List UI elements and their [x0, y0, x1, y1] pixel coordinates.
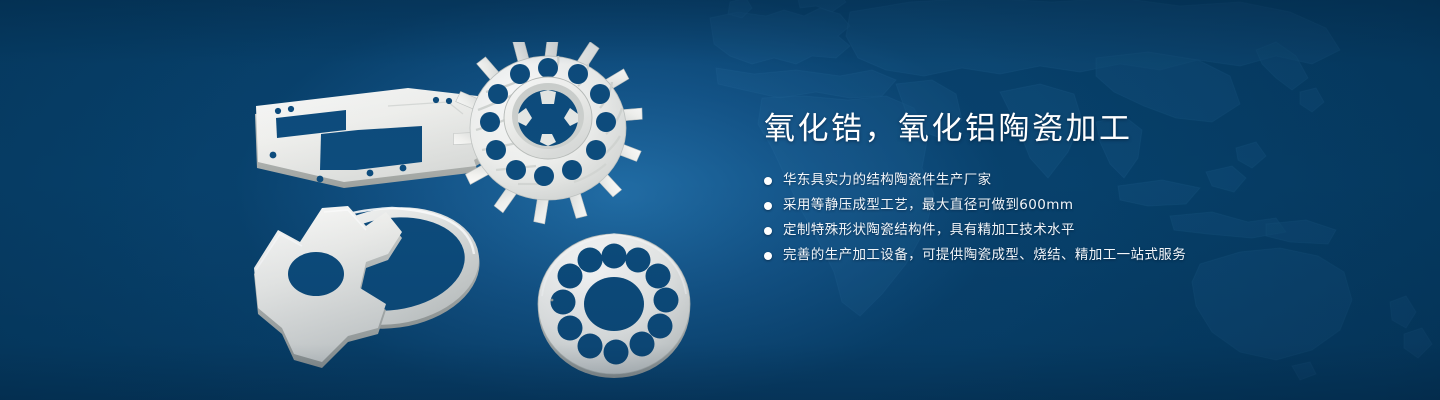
list-item: 定制特殊形状陶瓷结构件，具有精加工技术水平: [764, 222, 1364, 239]
feature-text: 华东具实力的结构陶瓷件生产厂家: [783, 172, 992, 189]
banner-copy: 氧化锆，氧化铝陶瓷加工 华东具实力的结构陶瓷件生产厂家 采用等静压成型工艺，最大…: [764, 108, 1364, 272]
bullet-dot-icon: [764, 177, 772, 185]
page-title: 氧化锆，氧化铝陶瓷加工: [764, 108, 1364, 150]
feature-text: 采用等静压成型工艺，最大直径可做到600mm: [783, 197, 1073, 214]
hero-banner: 氧化锆，氧化铝陶瓷加工 华东具实力的结构陶瓷件生产厂家 采用等静压成型工艺，最大…: [0, 0, 1440, 400]
feature-list: 华东具实力的结构陶瓷件生产厂家 采用等静压成型工艺，最大直径可做到600mm 定…: [764, 172, 1364, 264]
feature-text: 定制特殊形状陶瓷结构件，具有精加工技术水平: [783, 222, 1075, 239]
bullet-dot-icon: [764, 252, 772, 260]
feature-text: 完善的生产加工设备，可提供陶瓷成型、烧结、精加工一站式服务: [783, 247, 1186, 264]
bullet-dot-icon: [764, 227, 772, 235]
list-item: 采用等静压成型工艺，最大直径可做到600mm: [764, 197, 1364, 214]
list-item: 华东具实力的结构陶瓷件生产厂家: [764, 172, 1364, 189]
bullet-dot-icon: [764, 202, 772, 210]
list-item: 完善的生产加工设备，可提供陶瓷成型、烧结、精加工一站式服务: [764, 247, 1364, 264]
